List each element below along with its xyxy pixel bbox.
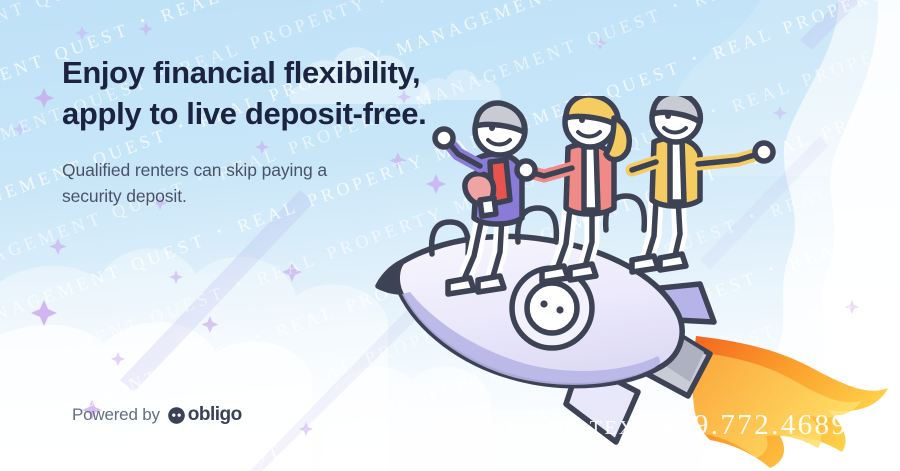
phone-cta-prefix: Call or text xyxy=(476,409,660,441)
powered-by-obligo: Powered by obligo xyxy=(72,404,242,426)
headline: Enjoy financial flexibility, apply to li… xyxy=(62,52,492,134)
deposit-free-ad-banner: Real Property Management Quest · Real Pr… xyxy=(0,0,900,471)
obligo-wordmark: obligo xyxy=(188,404,242,426)
obligo-logo: obligo xyxy=(167,404,242,426)
copy-block: Enjoy financial flexibility, apply to li… xyxy=(62,52,492,210)
obligo-mark-icon xyxy=(167,406,186,425)
powered-by-label: Powered by xyxy=(72,405,160,425)
phone-cta-overlay[interactable]: Call or text 469.772.4689 xyxy=(476,409,848,442)
phone-number[interactable]: 469.772.4689 xyxy=(660,409,848,441)
subheadline: Qualified renters can skip paying a secu… xyxy=(62,158,492,210)
